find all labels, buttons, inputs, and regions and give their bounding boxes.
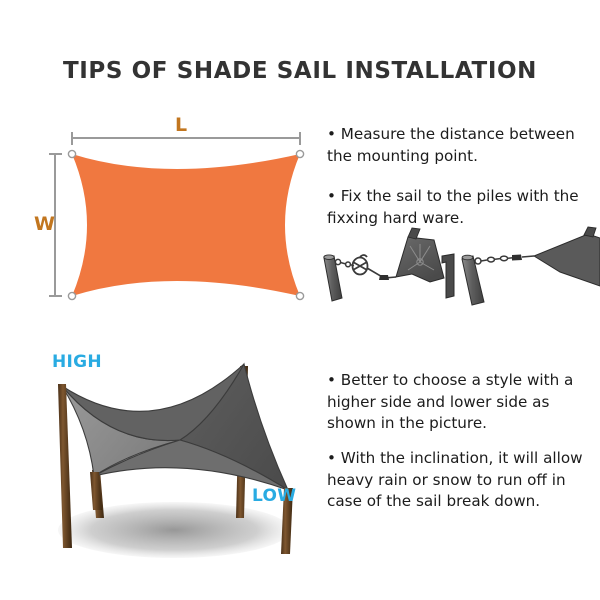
tip-1-line-1: • Measure the distance between xyxy=(327,124,600,146)
hypar-sail-surface xyxy=(62,364,288,490)
high-label: HIGH xyxy=(52,352,102,372)
right-sail-tab xyxy=(584,227,596,237)
left-pole xyxy=(324,255,342,301)
left-cable-clamp xyxy=(379,275,389,280)
right-cable xyxy=(522,256,534,257)
grommet-bottom-left xyxy=(68,292,75,299)
tip-1: • Measure the distance between the mount… xyxy=(327,124,600,167)
tip-4-line-1: • With the inclination, it will allow xyxy=(327,448,600,470)
tip-4: • With the inclination, it will allow he… xyxy=(327,448,600,513)
hardware-right xyxy=(462,227,600,305)
rectangular-sail-diagram xyxy=(18,108,318,320)
orange-sail-shape xyxy=(72,154,300,296)
grommet-top-left xyxy=(68,150,75,157)
rectangular-sail-svg xyxy=(18,108,318,320)
grommet-top-right xyxy=(296,150,303,157)
tip-1-line-2: the mounting point. xyxy=(327,146,600,168)
hardware-svg xyxy=(312,226,600,318)
post-front-left-high xyxy=(58,384,72,548)
inclined-sail-diagram xyxy=(16,342,328,576)
tip-2: • Fix the sail to the piles with the fix… xyxy=(327,186,600,229)
right-chain xyxy=(475,256,514,264)
width-label: W xyxy=(34,213,55,235)
mounting-hardware-illustration xyxy=(312,226,600,318)
hardware-left xyxy=(324,228,454,301)
left-chain xyxy=(335,259,354,266)
right-cable-clamp xyxy=(512,255,522,261)
low-label: LOW xyxy=(252,486,296,506)
inclined-sail-svg xyxy=(16,342,328,576)
right-sail-panel xyxy=(534,234,600,286)
shade-sail-installation-infographic: TIPS OF SHADE SAIL INSTALLATION xyxy=(0,0,600,600)
page-title: TIPS OF SHADE SAIL INSTALLATION xyxy=(0,58,600,84)
tip-4-line-2: heavy rain or snow to run off in xyxy=(327,470,600,492)
grommet-bottom-right xyxy=(296,292,303,299)
tip-3-line-2: higher side and lower side as xyxy=(327,392,600,414)
ground-shadow xyxy=(58,502,290,558)
tip-3: • Better to choose a style with a higher… xyxy=(327,370,600,435)
left-turnbuckle-icon xyxy=(353,255,368,275)
tip-2-line-1: • Fix the sail to the piles with the xyxy=(327,186,600,208)
left-sail-corner xyxy=(396,228,454,298)
tip-4-line-3: case of the sail break down. xyxy=(327,491,600,513)
tip-3-line-3: shown in the picture. xyxy=(327,413,600,435)
length-label: L xyxy=(175,114,187,136)
tip-3-line-1: • Better to choose a style with a xyxy=(327,370,600,392)
